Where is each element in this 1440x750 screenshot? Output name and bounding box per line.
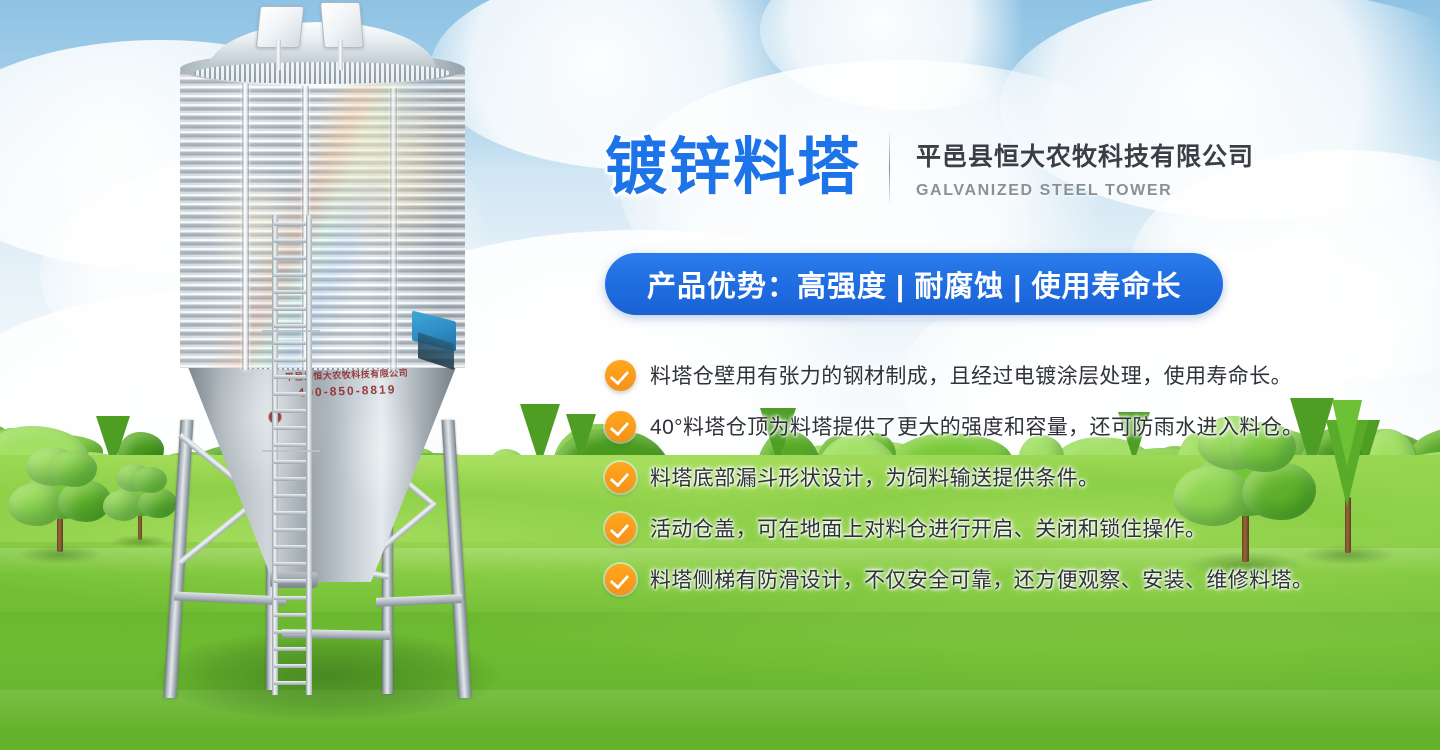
ladder-rung (274, 562, 306, 566)
ladder-rung (274, 256, 306, 260)
page-title: 镀锌料塔 (605, 137, 861, 199)
advantage-item-label: 活动仓盖，可在地面上对料仓进行开启、关闭和锁住操作。 (650, 513, 1206, 543)
advantage-item-label: 40°料塔仓顶为料塔提供了更大的强度和容量，还可防雨水进入料仓。 (650, 411, 1304, 441)
advantage-pill: 产品优势：高强度 | 耐腐蚀 | 使用寿命长 (605, 253, 1223, 315)
silo-roof-rim (194, 62, 450, 84)
silo-seam-rib (242, 70, 249, 370)
check-circle-icon (605, 564, 636, 595)
advantage-item-label: 料塔底部漏斗形状设计，为饲料输送提供条件。 (650, 462, 1099, 492)
ladder-rung (274, 511, 306, 515)
ladder-rung (274, 647, 306, 651)
ladder-rung (274, 239, 306, 243)
banner-content: 镀锌料塔 平邑县恒大农牧科技有限公司 GALVANIZED STEEL TOWE… (600, 0, 1320, 750)
ladder-rung (274, 596, 306, 600)
ladder-rung (274, 273, 306, 277)
feed-silo-image: 平邑县恒大农牧科技有限公司 400-850-8819 (150, 0, 510, 750)
advantage-item: 料塔侧梯有防滑设计，不仅安全可靠，还方便观察、安装、维修料塔。 (605, 562, 1305, 596)
ladder-rung (274, 630, 306, 634)
company-block: 平邑县恒大农牧科技有限公司 GALVANIZED STEEL TOWER (916, 137, 1254, 200)
check-circle-icon (605, 462, 636, 493)
advantage-item: 料塔底部漏斗形状设计，为饲料输送提供条件。 (605, 460, 1305, 494)
silo-ladder-cage (262, 330, 320, 452)
silo-ground-shadow (158, 630, 498, 720)
company-subtitle-en: GALVANIZED STEEL TOWER (916, 182, 1254, 200)
tree-canopy (49, 451, 97, 487)
tree-canopy (103, 490, 143, 521)
advantage-item: 活动仓盖，可在地面上对料仓进行开启、关闭和锁住操作。 (605, 511, 1305, 545)
hero-banner: 平邑县恒大农牧科技有限公司 400-850-8819 镀锌料塔 (0, 0, 1440, 750)
ladder-rung (274, 664, 306, 668)
ladder-rung (274, 477, 306, 481)
ladder-rung (274, 460, 306, 464)
title-row: 镀锌料塔 平邑县恒大农牧科技有限公司 GALVANIZED STEEL TOWE… (605, 122, 1254, 214)
silo-ladder-rail (272, 215, 278, 695)
ladder-rung (274, 613, 306, 617)
advantage-item: 料塔仓壁用有张力的钢材制成，且经过电镀涂层处理，使用寿命长。 (605, 358, 1305, 392)
tree-canopy (8, 483, 63, 526)
ladder-rung (274, 222, 306, 226)
advantage-item: 40°料塔仓顶为料塔提供了更大的强度和容量，还可防雨水进入料仓。 (605, 409, 1305, 443)
ladder-rung (274, 681, 306, 685)
ladder-rung (274, 494, 306, 498)
check-circle-icon (605, 360, 636, 391)
company-name: 平邑县恒大农牧科技有限公司 (916, 137, 1254, 173)
ladder-rung (274, 290, 306, 294)
silo-vent-stem (338, 40, 343, 70)
tree-canopy (1332, 400, 1362, 467)
ladder-rung (274, 545, 306, 549)
check-circle-icon (605, 513, 636, 544)
ladder-rung (274, 307, 306, 311)
advantage-pill-label: 产品优势：高强度 | 耐腐蚀 | 使用寿命长 (647, 263, 1181, 305)
ladder-rung (274, 579, 306, 583)
advantage-list: 料塔仓壁用有张力的钢材制成，且经过电镀涂层处理，使用寿命长。40°料塔仓顶为料塔… (605, 358, 1305, 613)
ladder-rung (274, 324, 306, 328)
advantage-item-label: 料塔侧梯有防滑设计，不仅安全可靠，还方便观察、安装、维修料塔。 (650, 564, 1313, 594)
silo-seam-rib (390, 88, 397, 370)
title-divider (889, 133, 890, 203)
check-circle-icon (605, 411, 636, 442)
advantage-item-label: 料塔仓壁用有张力的钢材制成，且经过电镀涂层处理，使用寿命长。 (650, 360, 1292, 390)
silo-ladder-rail (306, 215, 312, 695)
ladder-rung (274, 528, 306, 532)
silo-vent-stem (276, 40, 281, 70)
